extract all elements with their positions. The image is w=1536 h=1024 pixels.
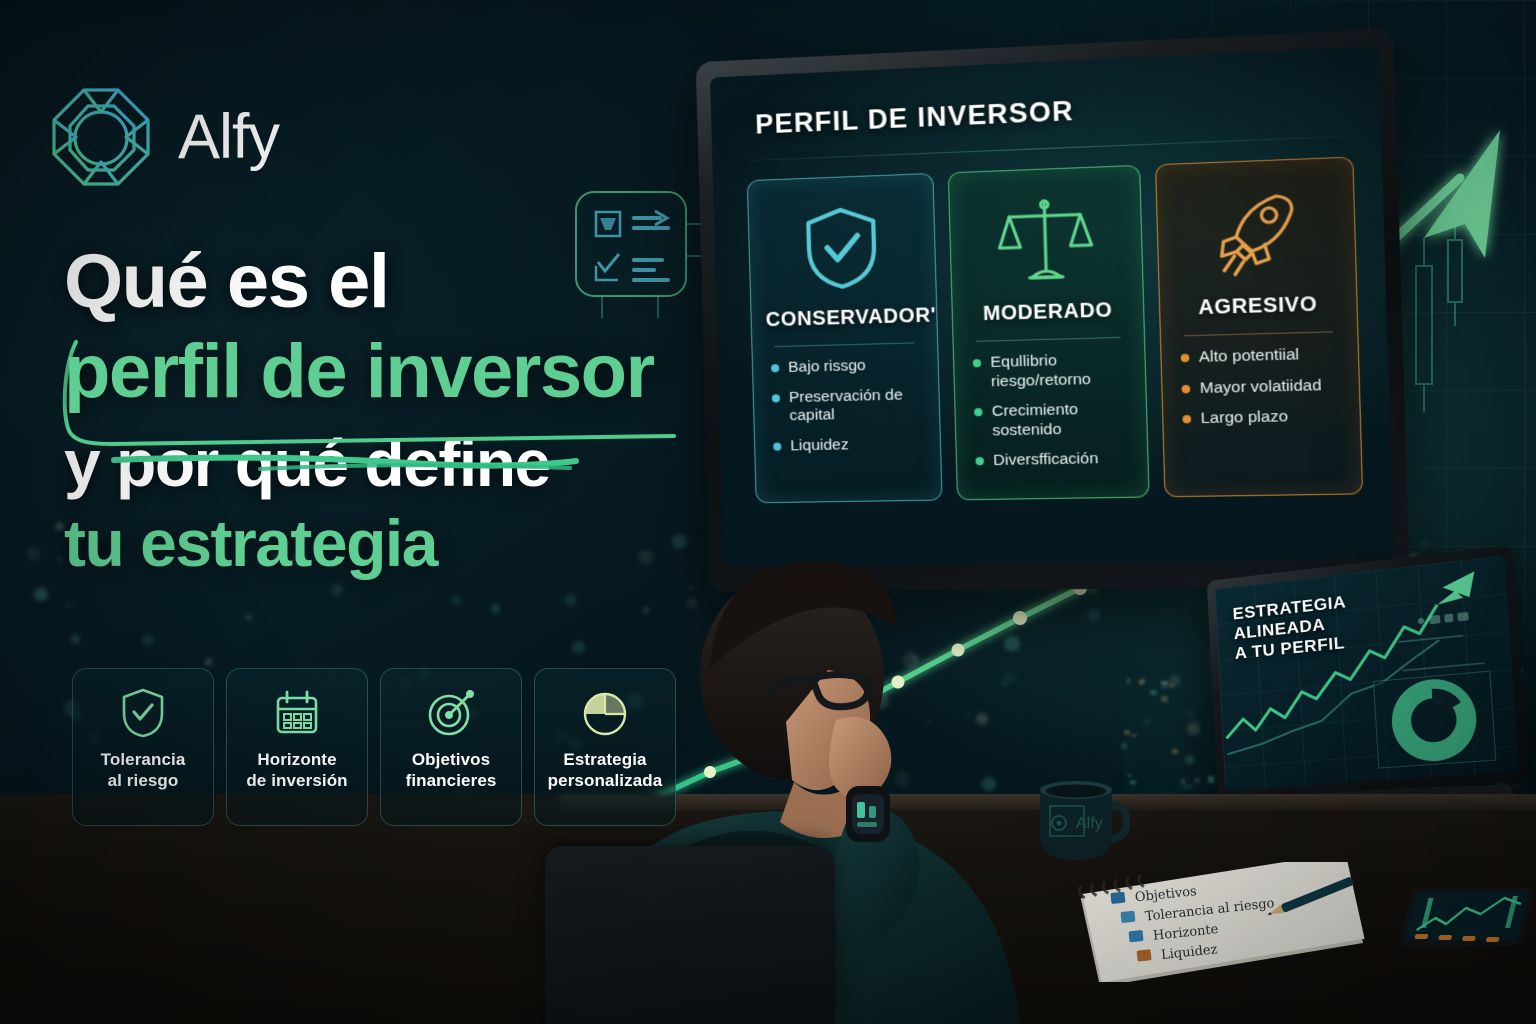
- profile-card-title: AGRESIVO: [1175, 292, 1342, 321]
- headline-line-4: tu estrategia: [64, 510, 724, 576]
- bokeh-particle: [491, 604, 501, 614]
- brand-logo[interactable]: Alfy: [46, 82, 279, 192]
- shield-check-icon: [120, 687, 166, 739]
- profile-card-moderado[interactable]: MODERADO Equllibrio riesgo/retorno Creci…: [948, 165, 1150, 500]
- bullet-dot: [973, 359, 982, 367]
- profile-cards: CONSERVADOR' Bajo rissgo Preservación de…: [747, 156, 1363, 503]
- screen-title: PERFIL DE INVERSOR: [755, 95, 1074, 140]
- bokeh-particle: [26, 547, 40, 561]
- chip-label-line2: de inversión: [246, 770, 347, 791]
- chip-label-line1: Estrategia: [548, 749, 663, 770]
- bullet-text: Crecimiento sostenido: [992, 400, 1130, 441]
- bokeh-particle: [1143, 718, 1151, 726]
- city-window-light: [1124, 730, 1131, 735]
- card-divider: [976, 337, 1120, 342]
- svg-text:Alfy: Alfy: [1076, 815, 1103, 832]
- donut-chart-icon: [1400, 686, 1469, 754]
- bokeh-particle: [331, 584, 343, 596]
- bokeh-particle: [1141, 654, 1143, 656]
- laptop-screen: ESTRATEGIA ALINEADA A TU PERFIL: [1215, 555, 1519, 790]
- calendar-icon: [272, 687, 322, 739]
- profile-card-title: MODERADO: [967, 299, 1129, 327]
- profile-card-conservador[interactable]: CONSERVADOR' Bajo rissgo Preservación de…: [747, 173, 943, 503]
- bullet-text: Liquidez: [790, 436, 849, 456]
- pie-chart-icon: [580, 687, 630, 739]
- city-window-light: [1169, 684, 1173, 688]
- headline-line-2: perfil de inversor: [64, 334, 724, 410]
- feature-chip-objetivos[interactable]: Objetivos financieres: [380, 668, 522, 826]
- screen-divider: [748, 136, 1348, 161]
- city-window-light: [1150, 690, 1157, 696]
- bullet-text: Equllibrio riesgo/retorno: [990, 350, 1128, 391]
- bokeh-particle: [205, 658, 213, 666]
- bullet-dot: [772, 394, 780, 402]
- city-window-light: [1127, 678, 1130, 683]
- target-icon: [426, 687, 476, 739]
- city-window-light: [1513, 785, 1519, 788]
- list-item: Equllibrio riesgo/retorno: [973, 350, 1129, 392]
- bullet-text: Preservación de capital: [789, 386, 923, 427]
- bullet-text: Bajo rissgo: [788, 357, 866, 378]
- city-window-light: [1127, 774, 1132, 777]
- brand-name: Alfy: [178, 101, 279, 173]
- card-divider: [1184, 331, 1333, 336]
- bullet-dot: [1181, 354, 1190, 363]
- profile-card-bullets: Alto potentiial Mayor volatiidad Largo p…: [1176, 345, 1345, 430]
- feature-chip-estrategia[interactable]: Estrategia personalizada: [534, 668, 676, 826]
- card-divider: [774, 342, 914, 347]
- profile-card-bullets: Equllibrio riesgo/retorno Crecimiento so…: [968, 350, 1132, 471]
- feature-chip-tolerancia[interactable]: Tolerancia al riesgo: [72, 668, 214, 826]
- feature-chip-label: Estrategia personalizada: [542, 749, 669, 792]
- bokeh-particle: [458, 598, 462, 602]
- headline-block: Qué es el perfil de inversor y por qué d…: [64, 244, 724, 576]
- poster-canvas: PERFIL DE INVERSOR CONSERVADOR': [0, 0, 1536, 1024]
- bokeh-particle: [55, 522, 64, 531]
- bokeh-particle: [71, 635, 80, 644]
- bokeh-particle: [451, 596, 460, 605]
- laptop-lid: ESTRATEGIA ALINEADA A TU PERFIL: [1207, 545, 1529, 800]
- bullet-text: Largo plazo: [1200, 408, 1288, 429]
- office-chair: [545, 846, 835, 1024]
- list-item: Diversfficación: [975, 450, 1130, 472]
- bullet-text: Alto potentiial: [1199, 346, 1300, 368]
- list-item: Crecimiento sostenido: [974, 400, 1130, 441]
- chip-label-line2: personalizada: [548, 770, 663, 791]
- bullet-text: Mayor volatiidad: [1200, 376, 1322, 398]
- profile-card-agresivo[interactable]: AGRESIVO Alto potentiial Mayor volatiida…: [1155, 156, 1363, 497]
- feature-chips: Tolerancia al riesgo H: [72, 668, 676, 826]
- bokeh-particle: [66, 603, 71, 608]
- laptop-screen-title: ESTRATEGIA ALINEADA A TU PERFIL: [1232, 592, 1349, 664]
- rising-line-chart-icon: [1215, 555, 1519, 790]
- chip-label-line1: Horizonte: [246, 749, 347, 770]
- bokeh-particle: [36, 579, 38, 581]
- list-item: Largo plazo: [1182, 407, 1342, 430]
- bullet-dot: [1182, 415, 1191, 423]
- profile-card-bullets: Bajo rissgo Preservación de capital Liqu…: [767, 355, 926, 456]
- list-item: Mayor volatiidad: [1181, 376, 1341, 399]
- city-window-light: [1161, 681, 1168, 685]
- bullet-dot: [975, 457, 984, 465]
- headline-line-1: Qué es el: [64, 244, 724, 320]
- city-window-light: [1139, 679, 1146, 683]
- bokeh-particle: [1169, 675, 1180, 686]
- feature-chip-horizonte[interactable]: Horizonte de inversión: [226, 668, 368, 826]
- list-item: Alto potentiial: [1181, 345, 1341, 368]
- alfy-octagon-logo: [46, 82, 156, 192]
- notebook: Objetivos Tolerancia al riesgo Horizonte…: [1068, 862, 1368, 982]
- list-item: Bajo rissgo: [771, 355, 922, 378]
- bullet-dot: [974, 408, 983, 416]
- list-item: Liquidez: [773, 435, 924, 457]
- city-window-light: [1161, 684, 1168, 690]
- chip-label-line1: Tolerancia: [101, 749, 186, 770]
- bullet-text: Diversfficación: [993, 450, 1099, 471]
- bokeh-particle: [142, 634, 153, 645]
- profile-card-title: CONSERVADOR': [765, 305, 922, 333]
- city-window-light: [1139, 682, 1143, 685]
- bokeh-particle: [34, 588, 47, 601]
- bokeh-particle: [57, 558, 61, 562]
- city-window-light: [1130, 781, 1135, 785]
- feature-chip-label: Objetivos financieres: [400, 749, 503, 792]
- feature-chip-label: Tolerancia al riesgo: [95, 749, 192, 792]
- city-window-light: [1121, 743, 1127, 749]
- bullet-dot: [1182, 384, 1191, 392]
- city-window-light: [1161, 696, 1168, 702]
- chip-label-line1: Objetivos: [406, 749, 497, 770]
- scales-balance-icon: [964, 189, 1128, 293]
- headline-line-3: y por qué define: [64, 430, 724, 496]
- coffee-mug: Alfy: [1032, 778, 1130, 864]
- bokeh-particle: [245, 614, 252, 621]
- bullet-dot: [771, 364, 779, 372]
- shield-check-icon: [762, 197, 921, 299]
- bullet-dot: [773, 442, 781, 450]
- chip-label-line2: financieres: [406, 770, 497, 791]
- rocket-icon: [1172, 181, 1341, 287]
- smartphone[interactable]: [1392, 884, 1536, 974]
- list-item: Preservación de capital: [772, 386, 923, 427]
- feature-chip-label: Horizonte de inversión: [240, 749, 353, 792]
- city-window-light: [1131, 734, 1138, 737]
- chip-label-line2: al riesgo: [101, 770, 186, 791]
- city-window-light: [1172, 749, 1178, 754]
